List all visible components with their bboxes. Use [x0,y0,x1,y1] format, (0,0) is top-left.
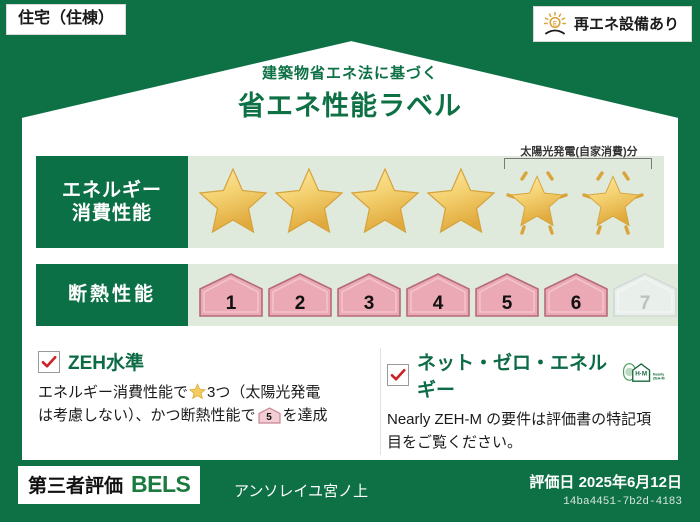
bels-jp-label: 第三者評価 [28,471,123,498]
energy-performance-label: 住宅（住棟） E 再エネ設備あり 建築物省エネ法に基づく 省エネ性 [0,0,700,522]
insulation-level-filled: 5 [474,272,540,318]
insulation-level-filled: 2 [267,272,333,318]
insulation-level-empty: 7 [612,272,678,318]
netzero-checkbox[interactable] [387,364,409,386]
insulation-level-number: 6 [543,294,609,313]
inline-level-badge: 5 [258,407,281,424]
solar-annotation-bracket [504,158,652,169]
insulation-level-number: 2 [267,294,333,313]
evaluation-date: 評価日 2025年6月12日 [529,471,682,492]
star-filled-icon [272,165,346,239]
insulation-level-number: 1 [198,294,264,313]
netzero-criteria-header: ネット・ゼロ・エネルギー H·M Nearly ZEH-M [387,348,666,402]
renewable-badge-label: 再エネ設備あり [574,17,679,32]
netzero-text-line1: Nearly ZEH-M の要件は評価書の特記項 [387,411,651,428]
insulation-level-number: 7 [612,294,678,313]
label-title: 省エネ性能ラベル [0,84,700,123]
solar-annotation-text: 太陽光発電(自家消費)分 [504,143,654,159]
zeh-text-stars: 3つ（太陽光発電 [207,384,320,401]
zeh-checkbox[interactable] [38,351,60,373]
energy-performance-label-box: エネルギー 消費性能 [36,156,188,248]
inline-star-icon [189,383,206,400]
star-solar-icon [500,165,574,239]
energy-stars-area: 太陽光発電(自家消費)分 [188,156,664,248]
star-filled-icon [196,165,270,239]
star-filled-icon [424,165,498,239]
netzero-criteria-column: ネット・ゼロ・エネルギー H·M Nearly ZEH-M Nearly ZEH… [380,348,666,455]
zeh-text-part3: を達成 [283,407,328,424]
insulation-level-filled: 1 [198,272,264,318]
energy-label-line2: 消費性能 [72,202,152,225]
criteria-columns: ZEH水準 エネルギー消費性能で3つ（太陽光発電 は考慮しない）、かつ断熱性能で… [38,348,666,455]
zeh-text-part1: エネルギー消費性能で [38,384,188,401]
evaluation-date-value: 2025年6月12日 [579,474,682,491]
star-rating-group [188,165,650,239]
energy-performance-row: エネルギー 消費性能 太陽光発電(自家消費)分 [36,156,664,248]
building-type-tag: 住宅（住棟） [6,4,126,35]
zeh-description: エネルギー消費性能で3つ（太陽光発電 は考慮しない）、かつ断熱性能で5を達成 [38,381,374,428]
insulation-level-filled: 4 [405,272,471,318]
nearly-zeh-m-logo: H·M Nearly ZEH-M [621,361,666,389]
netzero-description: Nearly ZEH-M の要件は評価書の特記項 目をご覧ください。 [387,408,666,455]
bels-logo-text: BELS [131,471,190,498]
insulation-performance-label-box: 断熱性能 [36,264,188,326]
svg-text:H·M: H·M [635,370,647,377]
label-footer: 第三者評価 BELS アンソレイユ宮ノ上 評価日 2025年6月12日 14ba… [0,460,700,522]
insulation-level-filled: 6 [543,272,609,318]
insulation-level-filled: 3 [336,272,402,318]
insulation-level-number: 5 [474,294,540,313]
evaluation-date-label: 評価日 [529,474,574,491]
label-subtitle: 建築物省エネ法に基づく [0,62,700,83]
solar-sun-icon: E [542,11,568,37]
energy-label-line1: エネルギー [62,179,162,202]
netzero-title: ネット・ゼロ・エネルギー [417,348,609,402]
insulation-level-number: 4 [405,294,471,313]
insulation-level-group: 1234567 [188,272,678,318]
star-solar-icon [576,165,650,239]
evaluation-id: 14ba4451-7b2d-4183 [563,496,682,508]
zeh-criteria-column: ZEH水準 エネルギー消費性能で3つ（太陽光発電 は考慮しない）、かつ断熱性能で… [38,348,380,455]
star-filled-icon [348,165,422,239]
svg-text:ZEH-M: ZEH-M [653,376,665,380]
insulation-performance-row: 断熱性能 1234567 [36,264,664,326]
zeh-text-part2: は考慮しない）、かつ断熱性能で [38,407,256,424]
insulation-levels-area: 1234567 [188,264,678,326]
property-name: アンソレイユ宮ノ上 [234,480,368,501]
insulation-level-number: 3 [336,294,402,313]
zeh-title: ZEH水準 [68,348,144,375]
renewable-equipment-badge: E 再エネ設備あり [533,6,692,42]
inline-level-number: 5 [258,413,281,423]
insulation-label: 断熱性能 [68,283,156,306]
zeh-criteria-header: ZEH水準 [38,348,374,375]
bels-certification-box: 第三者評価 BELS [18,466,200,504]
netzero-text-line2: 目をご覧ください。 [387,434,522,451]
svg-text:E: E [553,20,557,27]
